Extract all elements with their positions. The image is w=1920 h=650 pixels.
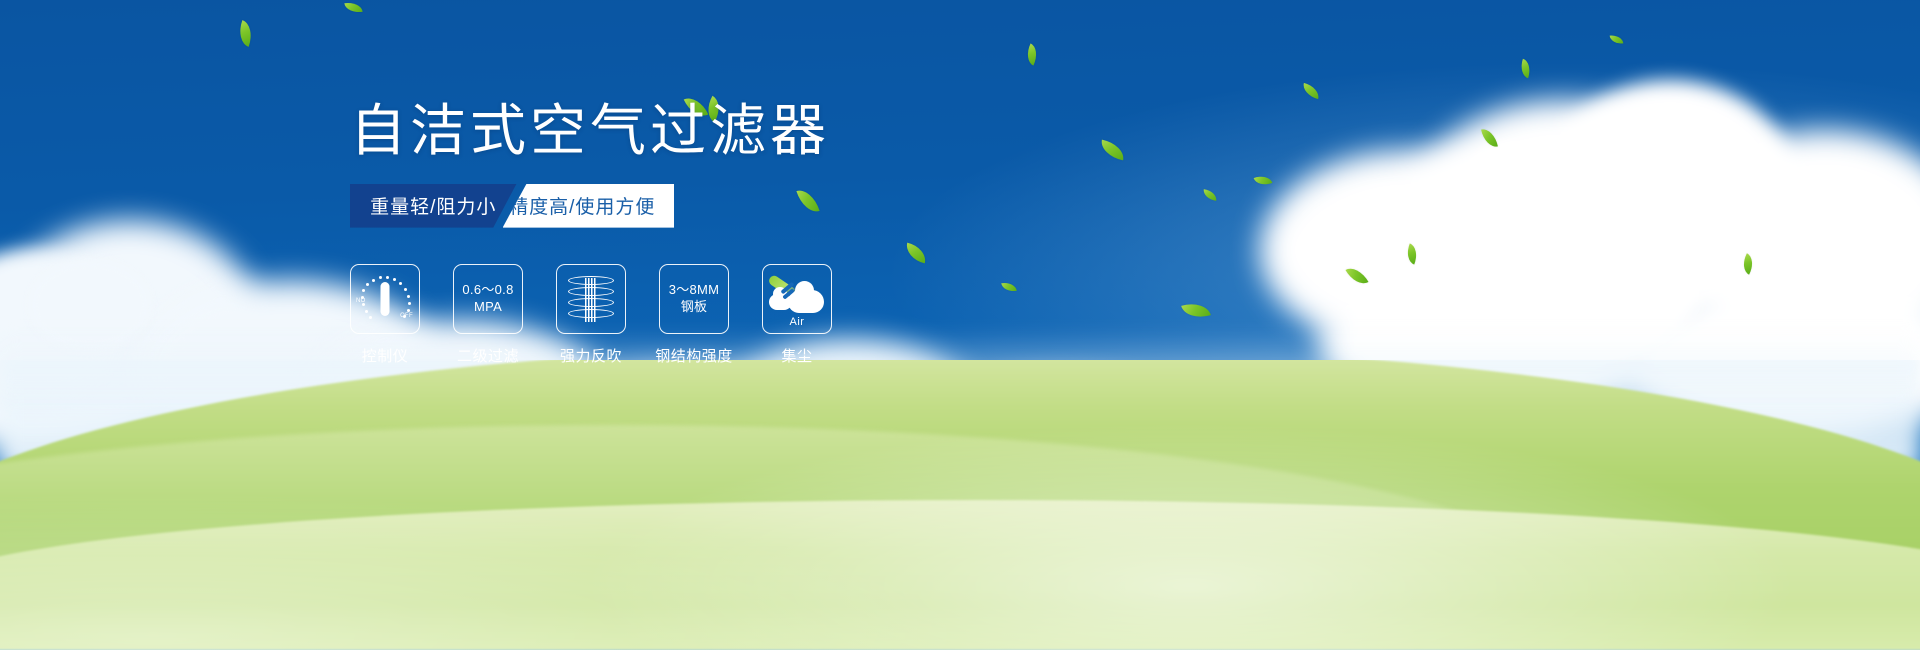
steel-plate-text-icon: 3～8MM 钢板: [669, 282, 720, 315]
steel-material: 钢板: [669, 299, 720, 315]
pressure-value: 0.6～0.8: [462, 282, 513, 298]
air-cloud-icon: Air: [768, 275, 826, 323]
product-banner: 自洁式空气过滤器 重量轻/阻力小 精度高/使用方便: [0, 0, 1920, 650]
feature-item-pressure[interactable]: 0.6～0.8 MPA 二级过滤: [453, 264, 523, 366]
dial-label-no: NO: [356, 298, 366, 304]
feature-label: 钢结构强度: [655, 345, 733, 366]
feature-label: 控制仪: [362, 345, 409, 366]
feature-label: 集尘: [781, 345, 812, 366]
feature-label: 二级过滤: [457, 345, 519, 366]
feature-icon-box: 3～8MM 钢板: [659, 264, 729, 334]
feature-item-dust[interactable]: Air 集尘: [762, 264, 832, 366]
control-dial-icon: NO OFF: [357, 273, 413, 325]
feature-label: 强力反吹: [560, 345, 622, 366]
feature-item-steel[interactable]: 3～8MM 钢板 钢结构强度: [659, 264, 729, 366]
pressure-text-icon: 0.6～0.8 MPA: [462, 282, 513, 315]
feature-icon-box: [556, 264, 626, 334]
feature-item-blowback[interactable]: 强力反吹: [556, 264, 626, 366]
pressure-unit: MPA: [462, 299, 513, 315]
page-title: 自洁式空气过滤器: [350, 100, 1110, 162]
tagline-group: 重量轻/阻力小 精度高/使用方便: [350, 184, 674, 228]
feature-item-control[interactable]: NO OFF 控制仪: [350, 264, 420, 366]
feature-icon-box: 0.6～0.8 MPA: [453, 264, 523, 334]
filter-cartridge-icon: [568, 274, 614, 324]
tagline-primary: 重量轻/阻力小: [350, 184, 517, 228]
dial-label-off: OFF: [400, 313, 413, 319]
banner-content: 自洁式空气过滤器 重量轻/阻力小 精度高/使用方便: [350, 100, 1110, 366]
steel-thickness: 3～8MM: [669, 282, 720, 298]
feature-icon-box: Air: [762, 264, 832, 334]
air-label: Air: [768, 316, 826, 328]
feature-icon-box: NO OFF: [350, 264, 420, 334]
tagline-secondary: 精度高/使用方便: [503, 184, 674, 228]
feature-list: NO OFF 控制仪 0.6～0.8 MPA 二级过滤: [350, 264, 1110, 366]
grass-field: [0, 360, 1920, 650]
